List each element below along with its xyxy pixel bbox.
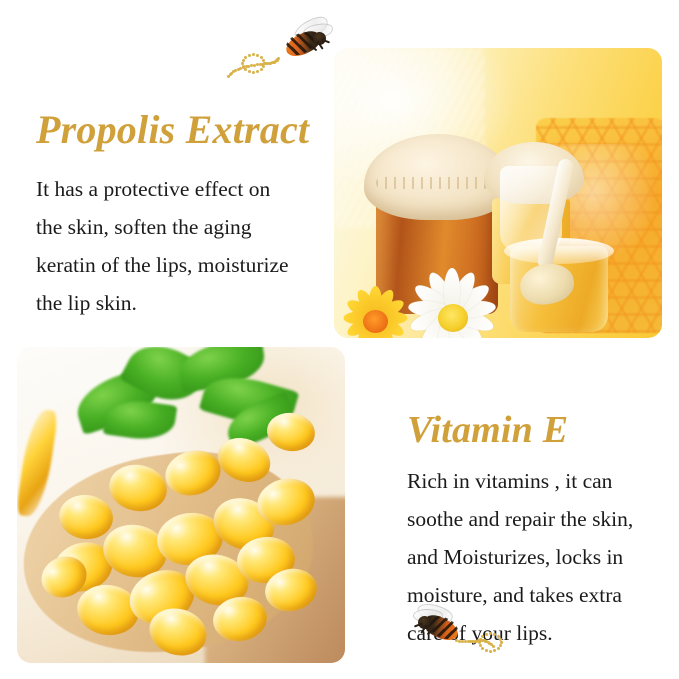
trail-dot	[248, 54, 251, 57]
softgel-capsule	[265, 410, 318, 454]
trail-dot	[256, 63, 259, 66]
propolis-description: It has a protective effect on the skin, …	[36, 170, 326, 322]
trail-dot	[237, 68, 240, 71]
vitamin-e-line-2: soothe and repair the skin,	[407, 500, 672, 538]
trail-dot	[256, 70, 259, 73]
vitamin-e-capsules-photo	[17, 347, 345, 663]
bee-icon	[277, 22, 337, 70]
open-jar-rim	[504, 238, 614, 264]
honey-jars-photo	[334, 48, 662, 338]
trail-dot	[260, 68, 263, 71]
trail-dot	[252, 53, 255, 56]
trail-dot	[252, 71, 255, 74]
trail-dot	[485, 633, 488, 636]
softgel-capsule	[211, 430, 277, 489]
trail-dot	[500, 641, 503, 644]
propolis-line-2: the skin, soften the aging	[36, 208, 326, 246]
trail-dot	[256, 54, 259, 57]
trail-dot	[241, 62, 244, 65]
trail-dot	[250, 64, 253, 67]
propolis-line-3: keratin of the lips, moisturize	[36, 246, 326, 284]
vitamin-e-heading: Vitamin E	[407, 408, 568, 452]
trail-dot	[478, 641, 481, 644]
yellow-calendula-flower	[338, 280, 414, 338]
trail-dot	[493, 633, 496, 636]
trail-dot	[227, 75, 230, 78]
trail-dot	[492, 645, 495, 648]
trail-dot	[248, 70, 251, 73]
softgel-capsule	[105, 460, 170, 515]
trail-dot	[481, 635, 484, 638]
propolis-line-4: the lip skin.	[36, 284, 326, 322]
trail-dot	[253, 64, 256, 67]
daisy-center	[438, 304, 468, 332]
trail-dot	[244, 68, 247, 71]
trail-dot	[489, 632, 492, 635]
trail-dot	[489, 650, 492, 653]
propolis-heading: Propolis Extract	[36, 106, 309, 153]
trail-dot	[479, 638, 482, 641]
softgel-capsule	[160, 444, 226, 502]
product-benefits-infographic: Propolis Extract It has a protective eff…	[0, 0, 679, 679]
trail-dot	[244, 56, 247, 59]
softgel-capsule	[57, 492, 115, 541]
white-daisy-flower	[400, 256, 504, 338]
trail-dot	[259, 63, 262, 66]
calendula-center	[363, 310, 388, 333]
trail-dot	[242, 59, 245, 62]
capsule-cluster	[17, 347, 345, 663]
vitamin-e-line-1: Rich in vitamins , it can	[407, 462, 672, 500]
trail-dot	[263, 62, 266, 65]
vitamin-e-line-3: and Moisturizes, locks in	[407, 538, 672, 576]
bee-icon	[409, 606, 467, 652]
propolis-line-1: It has a protective effect on	[36, 170, 326, 208]
